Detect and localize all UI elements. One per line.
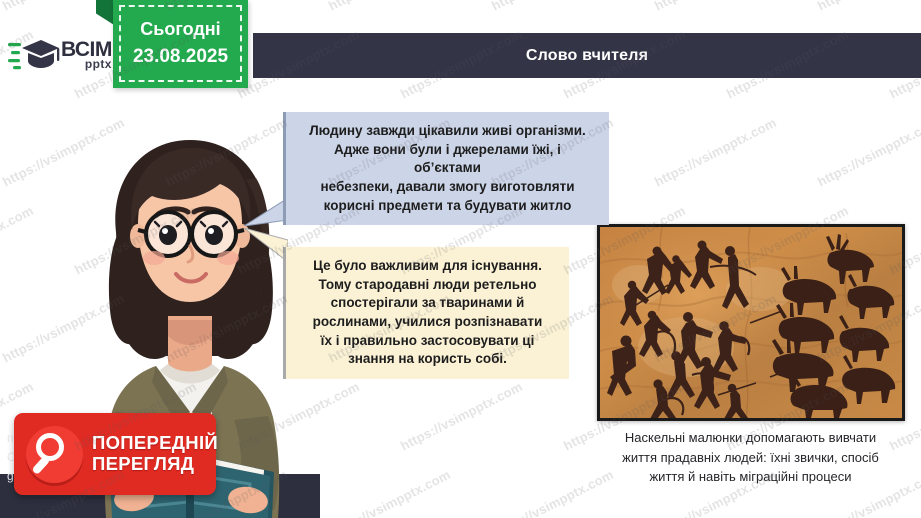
speech-bubble-intro: Людину завжди цікавили живі організми. А… [283,112,609,225]
bubble-line: їх і правильно застосовувати ці [299,332,556,351]
bubble-cream-tail [244,228,288,262]
preview-badge-line-2: ПЕРЕГЛЯД [92,454,218,475]
magnifier-icon [26,426,83,483]
bubble-line: Адже вони були і джерелами їжі, і об’єкт… [299,141,596,178]
caption-line: життя прадавніх людей: їхні звички, спос… [580,448,921,468]
caption-line: Наскельні малюнки допомагають вивчати [580,428,921,448]
date-badge-value: 23.08.2025 [133,47,228,68]
caption-line: життя й навіть міграційні процеси [580,467,921,487]
bubble-line: Тому стародавні люди ретельно [299,276,556,295]
graduation-cap-icon [8,34,60,74]
cave-painting-photo [597,224,905,421]
photo-caption: Наскельні малюнки допомагають вивчати жи… [580,428,921,487]
bubble-blue-tail [244,198,288,226]
bubble-line: Це було важливим для існування. [299,257,556,276]
bubble-line: Людину завжди цікавили живі організми. [299,122,596,141]
preview-badge[interactable]: ПОПЕРЕДНІЙ ПЕРЕГЛЯД [14,413,216,495]
bubble-line: спостерігали за тваринами й [299,294,556,313]
speech-bubble-explanation: Це було важливим для існування. Тому ста… [283,247,569,379]
date-badge-label: Сьогодні [140,20,220,40]
bubble-line: рослинами, училися розпізнавати [299,313,556,332]
cave-painting-artwork [600,227,902,418]
date-badge: Сьогодні 23.08.2025 [113,0,248,88]
page-title: Слово вчителя [526,47,648,65]
bubble-line: корисні предмети та будувати житло [299,197,596,216]
preview-badge-line-1: ПОПЕРЕДНІЙ [92,433,218,454]
bubble-line: небезпеки, давали змогу виготовляти [299,178,596,197]
slide-root: п С g [0,0,921,518]
brand-logo[interactable]: ВСІМ pptx [8,31,118,77]
bubble-line: знання на користь собі. [299,350,556,369]
section-header-bar: Слово вчителя [253,33,921,78]
